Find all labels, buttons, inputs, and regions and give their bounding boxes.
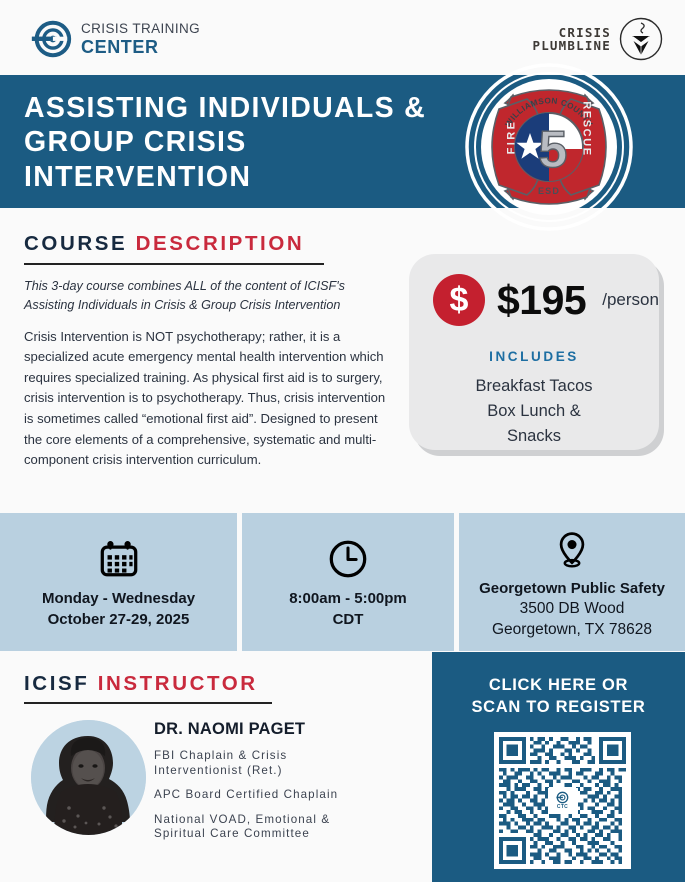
ctc-logo-line1: CRISIS TRAINING <box>81 22 200 36</box>
calendar-icon <box>98 534 140 580</box>
qr-code[interactable]: CTC <box>494 732 631 869</box>
svg-text:FIRE: FIRE <box>506 120 518 155</box>
date-line2: October 27-29, 2025 <box>42 610 195 630</box>
svg-text:RESCUE: RESCUE <box>581 101 593 156</box>
course-description-heading: COURSE DESCRIPTION <box>24 232 394 256</box>
price-card: $ $195 /person INCLUDES Breakfast Tacos … <box>409 254 659 450</box>
location-text: Georgetown Public Safety 3500 DB Wood Ge… <box>479 579 665 641</box>
crisis-training-center-logo[interactable]: CRISIS TRAINING CENTER <box>30 18 200 60</box>
williamson-county-esd5-badge-icon: 5 WILLIAMSON COUNTY FIRE RESCUE ESD <box>464 62 634 232</box>
course-lead-text: This 3-day course combines ALL of the co… <box>24 277 394 315</box>
qr-center-label: CTC <box>557 804 568 810</box>
instructor-credential-3: National VOAD, Emotional & Spiritual Car… <box>154 813 424 842</box>
instructor-heading: ICISF INSTRUCTOR <box>24 672 424 696</box>
date-text: Monday - Wednesday October 27-29, 2025 <box>42 589 195 629</box>
plumb-bob-icon <box>619 17 663 61</box>
hero-banner: ASSISTING INDIVIDUALS & GROUP CRISIS INT… <box>0 75 685 208</box>
instructor-credential-1: FBI Chaplain & Crisis Interventionist (R… <box>154 749 424 778</box>
svg-text:ESD: ESD <box>538 186 560 196</box>
time-line2: CDT <box>289 610 407 630</box>
location-pin-icon <box>552 524 592 570</box>
instructor-section: ICISF INSTRUCTOR <box>24 672 424 704</box>
instructor-credential-2: APC Board Certified Chaplain <box>154 788 424 803</box>
heading-underline <box>24 263 324 265</box>
dollar-sign-badge-icon: $ <box>433 274 485 326</box>
location-panel: Georgetown Public Safety 3500 DB Wood Ge… <box>459 513 685 651</box>
info-band: Monday - Wednesday October 27-29, 2025 8… <box>0 513 685 651</box>
date-line1: Monday - Wednesday <box>42 589 195 609</box>
avatar <box>31 720 146 835</box>
ctc-mini-target-icon <box>556 791 569 804</box>
page-title: ASSISTING INDIVIDUALS & GROUP CRISIS INT… <box>24 91 454 194</box>
includes-items: Breakfast Tacos Box Lunch & Snacks <box>409 374 659 449</box>
heading-word-description: DESCRIPTION <box>136 232 305 255</box>
clock-icon <box>327 534 369 580</box>
plumbline-logo-line2: PLUMBLINE <box>532 39 611 53</box>
location-line3: Georgetown, TX 78628 <box>479 620 665 641</box>
qr-code-image: CTC <box>499 737 626 864</box>
course-flyer: CRISIS TRAINING CENTER CRISIS PLUMBLINE <box>0 0 685 882</box>
price-unit: /person <box>602 290 659 310</box>
time-line1: 8:00am - 5:00pm <box>289 589 407 609</box>
crisis-plumbline-logo[interactable]: CRISIS PLUMBLINE <box>532 17 663 61</box>
price-row: $ $195 /person <box>433 274 659 326</box>
crisis-training-center-target-icon <box>30 18 72 60</box>
heading-word-icisf: ICISF <box>24 672 89 695</box>
time-text: 8:00am - 5:00pm CDT <box>289 589 407 629</box>
ctc-logo-line2: CENTER <box>81 38 200 56</box>
heading-word-course: COURSE <box>24 232 127 255</box>
register-heading: CLICK HERE OR SCAN TO REGISTER <box>432 674 685 719</box>
time-panel: 8:00am - 5:00pm CDT <box>242 513 454 651</box>
instructor-heading-underline <box>24 702 272 704</box>
instructor-details: DR. NAOMI PAGET FBI Chaplain & Crisis In… <box>154 720 424 842</box>
heading-word-instructor: INSTRUCTOR <box>98 672 258 695</box>
location-line2: 3500 DB Wood <box>479 599 665 620</box>
includes-label: INCLUDES <box>409 349 659 364</box>
instructor-name: DR. NAOMI PAGET <box>154 720 424 739</box>
price-amount: $195 <box>497 280 586 321</box>
date-panel: Monday - Wednesday October 27-29, 2025 <box>0 513 237 651</box>
location-line1: Georgetown Public Safety <box>479 579 665 599</box>
register-panel[interactable]: CLICK HERE OR SCAN TO REGISTER <box>432 652 685 882</box>
qr-center-logo: CTC <box>548 788 578 814</box>
plumbline-logo-line1: CRISIS <box>532 26 611 40</box>
course-description-section: COURSE DESCRIPTION This 3-day course com… <box>24 232 394 471</box>
svg-text:5: 5 <box>539 121 568 179</box>
course-body-text: Crisis Intervention is NOT psychotherapy… <box>24 327 394 471</box>
